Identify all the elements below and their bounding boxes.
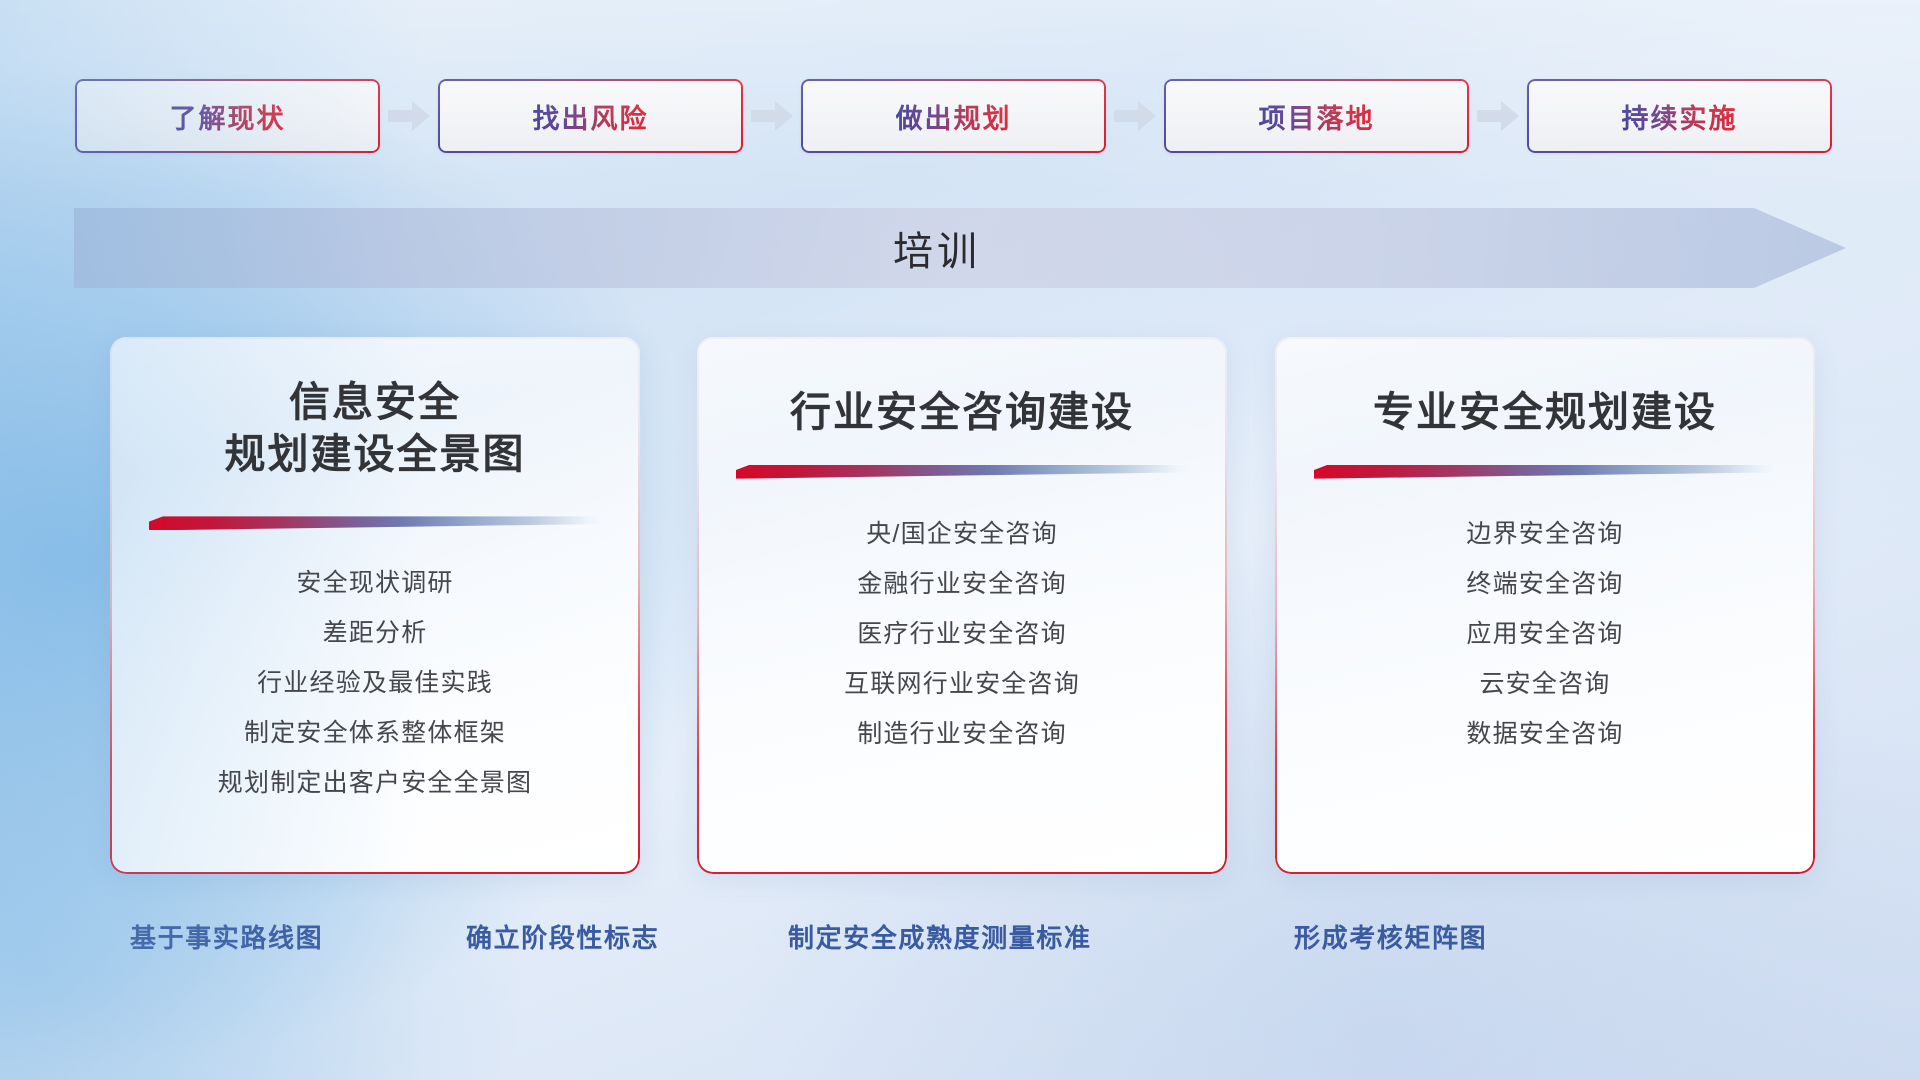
card-list: 安全现状调研 差距分析 行业经验及最佳实践 制定安全体系整体框架 规划制定出客户… — [138, 564, 612, 802]
process-step-row: 了解现状 找出风险 做出规划 项目落地 — [75, 79, 1845, 153]
card-industry-security-consulting[interactable]: 行业安全咨询建设 央/国企安全咨询 金融行业安全咨询 医疗行业安全咨询 互联网行… — [697, 337, 1227, 874]
card-title: 行业安全咨询建设 — [790, 387, 1134, 439]
caption-fact-roadmap: 基于事实路线图 — [130, 918, 323, 955]
caption-stage-milestones: 确立阶段性标志 — [466, 918, 659, 955]
step-chip-1[interactable]: 了解现状 — [75, 79, 380, 153]
card-professional-security-planning[interactable]: 专业安全规划建设 边界安全咨询 终端安全咨询 应用安全咨询 云安全咨询 数据安全… — [1275, 337, 1815, 874]
step-chip-2[interactable]: 找出风险 — [438, 79, 743, 153]
banner-title: 培训 — [74, 208, 1846, 288]
step-chip-3[interactable]: 做出规划 — [801, 79, 1106, 153]
card-divider — [149, 516, 601, 530]
list-item: 金融行业安全咨询 — [857, 565, 1067, 603]
step-chip-label: 了解现状 — [170, 97, 286, 136]
list-item: 云安全咨询 — [1479, 665, 1610, 703]
slide-canvas: 了解现状 找出风险 做出规划 项目落地 — [0, 0, 1920, 1080]
card-title: 专业安全规划建设 — [1373, 387, 1717, 439]
list-item: 制定安全体系整体框架 — [244, 714, 506, 752]
training-banner: 培训 — [74, 208, 1846, 288]
caption-row: 基于事实路线图 确立阶段性标志 制定安全成熟度测量标准 形成考核矩阵图 — [0, 918, 1920, 968]
step-chip-label: 找出风险 — [533, 97, 649, 136]
card-list: 边界安全咨询 终端安全咨询 应用安全咨询 云安全咨询 数据安全咨询 — [1303, 515, 1787, 753]
step-chip-label: 持续实施 — [1622, 97, 1738, 136]
caption-maturity-standard: 制定安全成熟度测量标准 — [788, 918, 1092, 955]
list-item: 互联网行业安全咨询 — [844, 665, 1080, 703]
card-row: 信息安全 规划建设全景图 安全现状调研 差距分析 行业经验及最佳实践 制定安全体… — [0, 337, 1920, 874]
caption-assessment-matrix: 形成考核矩阵图 — [1294, 918, 1487, 955]
step-chip-label: 项目落地 — [1259, 97, 1375, 136]
step-chip-label: 做出规划 — [896, 97, 1012, 136]
card-divider — [736, 465, 1188, 479]
list-item: 规划制定出客户安全全景图 — [218, 764, 532, 802]
list-item: 数据安全咨询 — [1466, 715, 1623, 753]
list-item: 行业经验及最佳实践 — [257, 664, 493, 702]
card-title: 信息安全 规划建设全景图 — [225, 377, 526, 480]
card-divider — [1314, 465, 1776, 479]
arrow-right-icon — [1469, 79, 1527, 153]
card-list: 央/国企安全咨询 金融行业安全咨询 医疗行业安全咨询 互联网行业安全咨询 制造行… — [725, 515, 1199, 753]
arrow-right-icon — [380, 79, 438, 153]
list-item: 安全现状调研 — [296, 564, 453, 602]
list-item: 医疗行业安全咨询 — [857, 615, 1067, 653]
list-item: 边界安全咨询 — [1466, 515, 1623, 553]
card-info-security-panorama[interactable]: 信息安全 规划建设全景图 安全现状调研 差距分析 行业经验及最佳实践 制定安全体… — [110, 337, 640, 874]
list-item: 制造行业安全咨询 — [857, 715, 1067, 753]
list-item: 央/国企安全咨询 — [866, 515, 1058, 553]
list-item: 终端安全咨询 — [1466, 565, 1623, 603]
step-chip-4[interactable]: 项目落地 — [1164, 79, 1469, 153]
step-chip-5[interactable]: 持续实施 — [1527, 79, 1832, 153]
arrow-right-icon — [743, 79, 801, 153]
arrow-right-icon — [1106, 79, 1164, 153]
list-item: 差距分析 — [323, 614, 428, 652]
list-item: 应用安全咨询 — [1466, 615, 1623, 653]
